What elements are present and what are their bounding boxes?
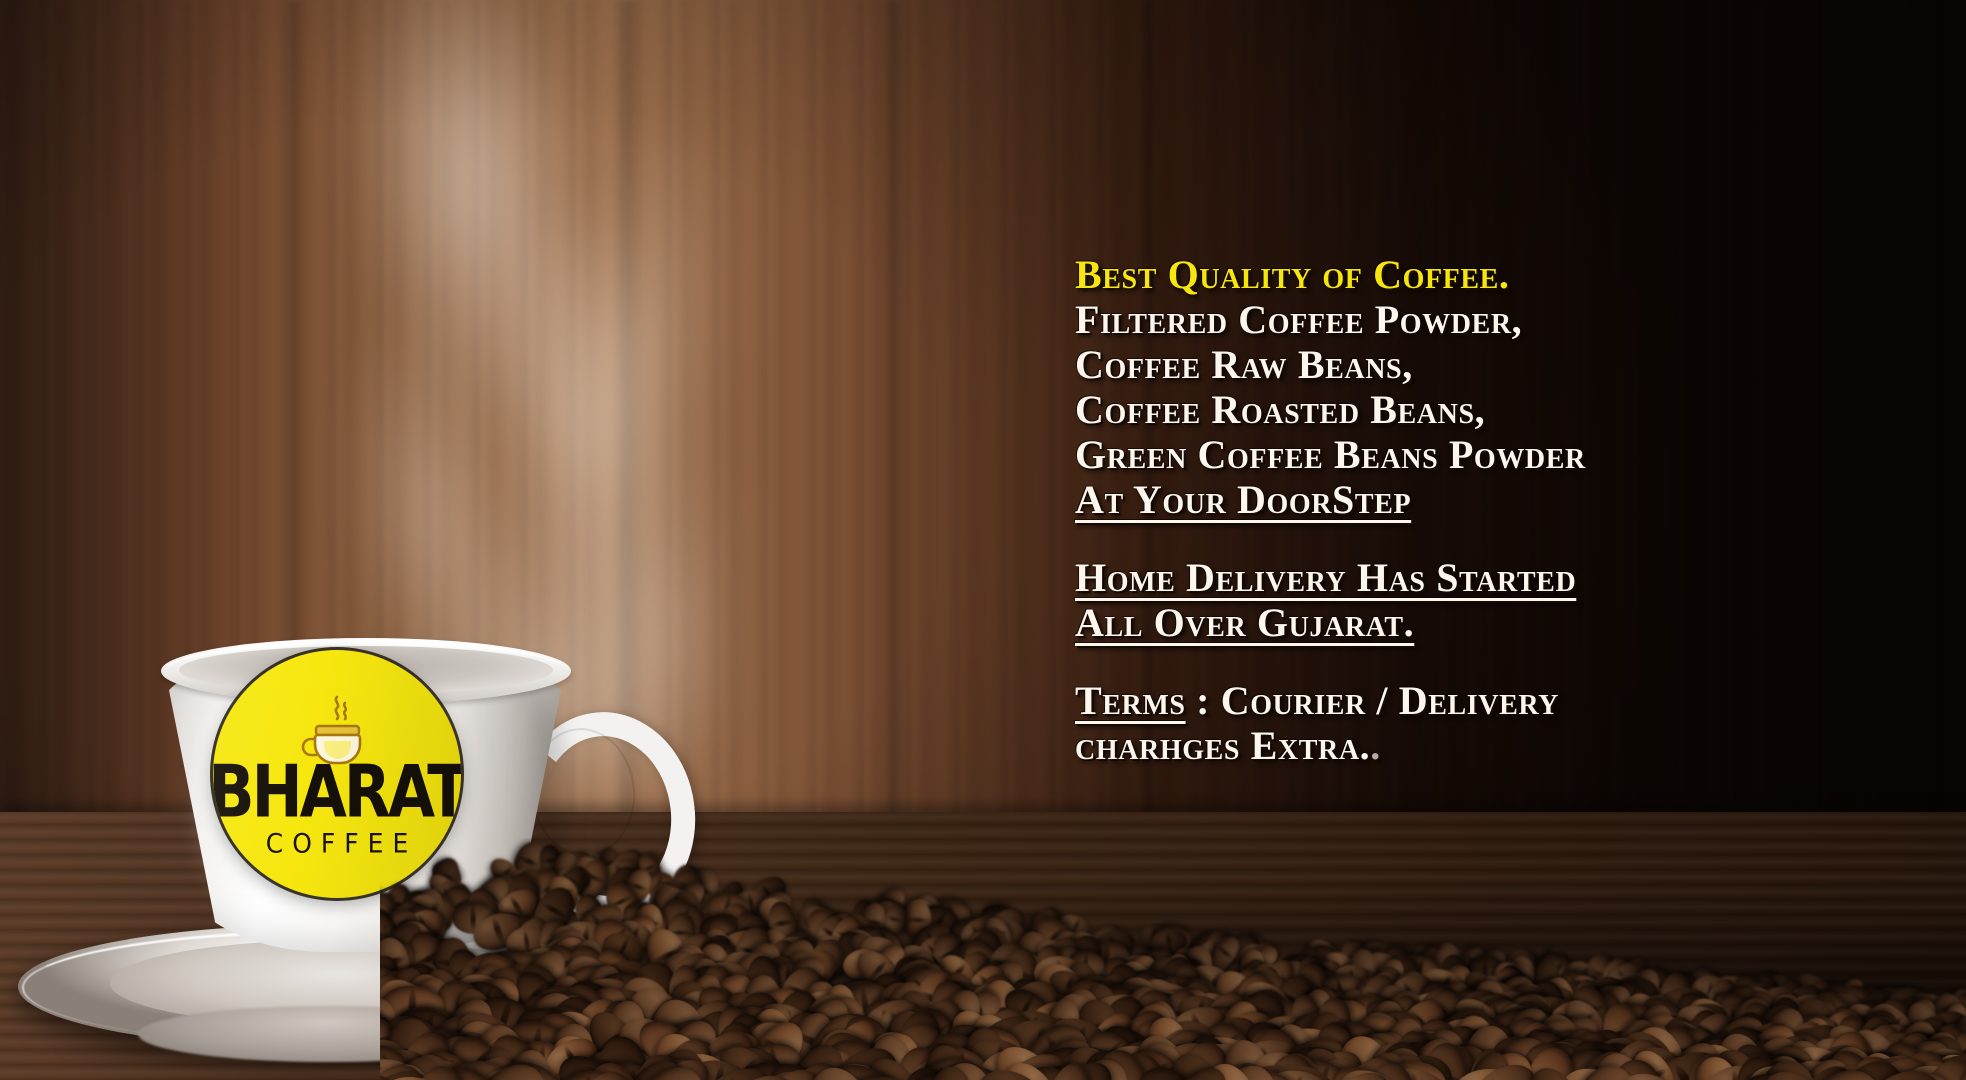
delivery-line-2: All Over Gujarat. (1075, 600, 1414, 645)
product-line-4: Green Coffee Beans Powder (1075, 432, 1895, 477)
terms-line-2: charhges Extra. (1075, 723, 1370, 768)
doorstep-line: At Your DoorStep (1075, 477, 1411, 522)
saucer-center-base (138, 1006, 518, 1062)
promotional-copy: Best Quality of Coffee. Filtered Coffee … (1075, 252, 1895, 768)
terms-label: Terms (1075, 678, 1186, 723)
promotional-banner: BHARAT COFFEE Best Quality of Coffee. Fi… (0, 0, 1966, 1080)
terms-value: Courier / Delivery (1221, 678, 1559, 723)
product-line-1: Filtered Coffee Powder, (1075, 297, 1895, 342)
copy-spacer-1 (1075, 522, 1895, 555)
product-line-2: Coffee Raw Beans, (1075, 342, 1895, 387)
terms-separator: : (1186, 678, 1221, 723)
product-line-3: Coffee Roasted Beans, (1075, 387, 1895, 432)
delivery-line-1: Home Delivery Has Started (1075, 555, 1576, 600)
logo-wordmark: BHARAT (213, 761, 461, 824)
terms-trailing-dot: . (1370, 723, 1381, 768)
headline: Best Quality of Coffee. (1075, 252, 1895, 297)
bharat-coffee-logo-badge: BHARAT COFFEE (213, 650, 461, 898)
copy-spacer-2 (1075, 645, 1895, 678)
logo-subtitle: COFFEE (257, 829, 418, 859)
